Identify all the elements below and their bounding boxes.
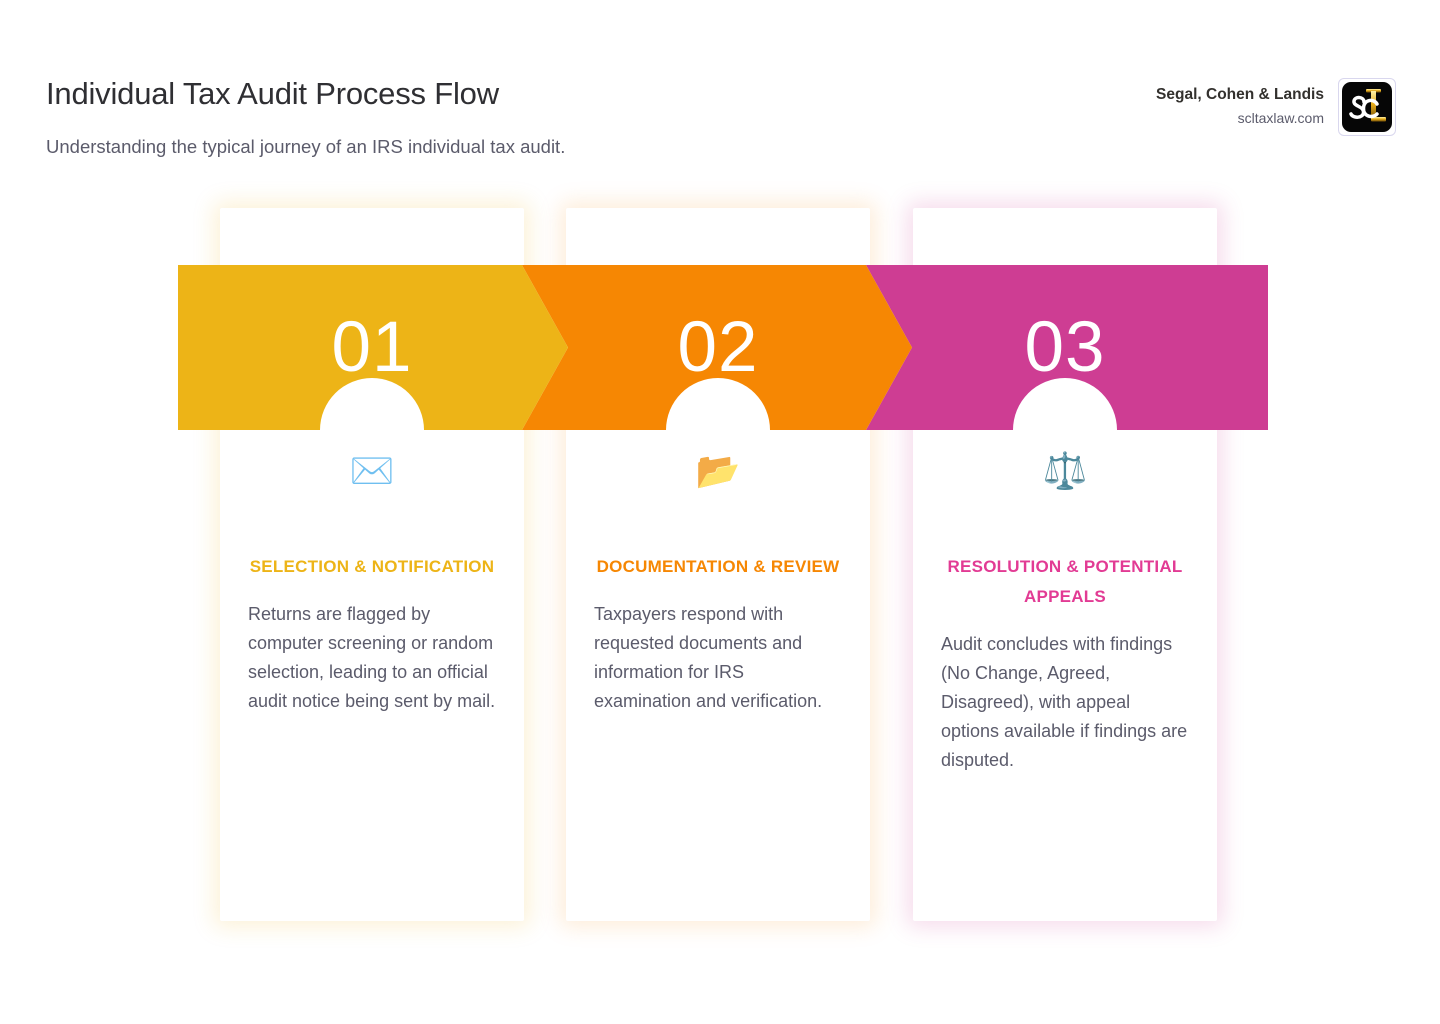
step-content-3: ⚖️ Resolution & Potential Appeals Audit … xyxy=(913,432,1217,775)
infographic-canvas: Individual Tax Audit Process Flow Unders… xyxy=(0,0,1440,1024)
open-folder-icon: 📂 xyxy=(566,432,870,510)
step-title-1: Selection & Notification xyxy=(220,552,524,582)
step-description-2: Taxpayers respond with requested documen… xyxy=(566,600,870,716)
step-title-2: Documentation & Review xyxy=(566,552,870,582)
step-title-3: Resolution & Potential Appeals xyxy=(913,552,1217,612)
balance-scales-icon: ⚖️ xyxy=(913,432,1217,510)
step-description-3: Audit concludes with findings (No Change… xyxy=(913,630,1217,775)
step-description-1: Returns are flagged by computer screenin… xyxy=(220,600,524,716)
step-content-1: ✉️ Selection & Notification Returns are … xyxy=(220,432,524,716)
step-content-2: 📂 Documentation & Review Taxpayers respo… xyxy=(566,432,870,716)
envelope-icon: ✉️ xyxy=(220,432,524,510)
process-ribbon: 01 02 03 xyxy=(178,265,1268,430)
